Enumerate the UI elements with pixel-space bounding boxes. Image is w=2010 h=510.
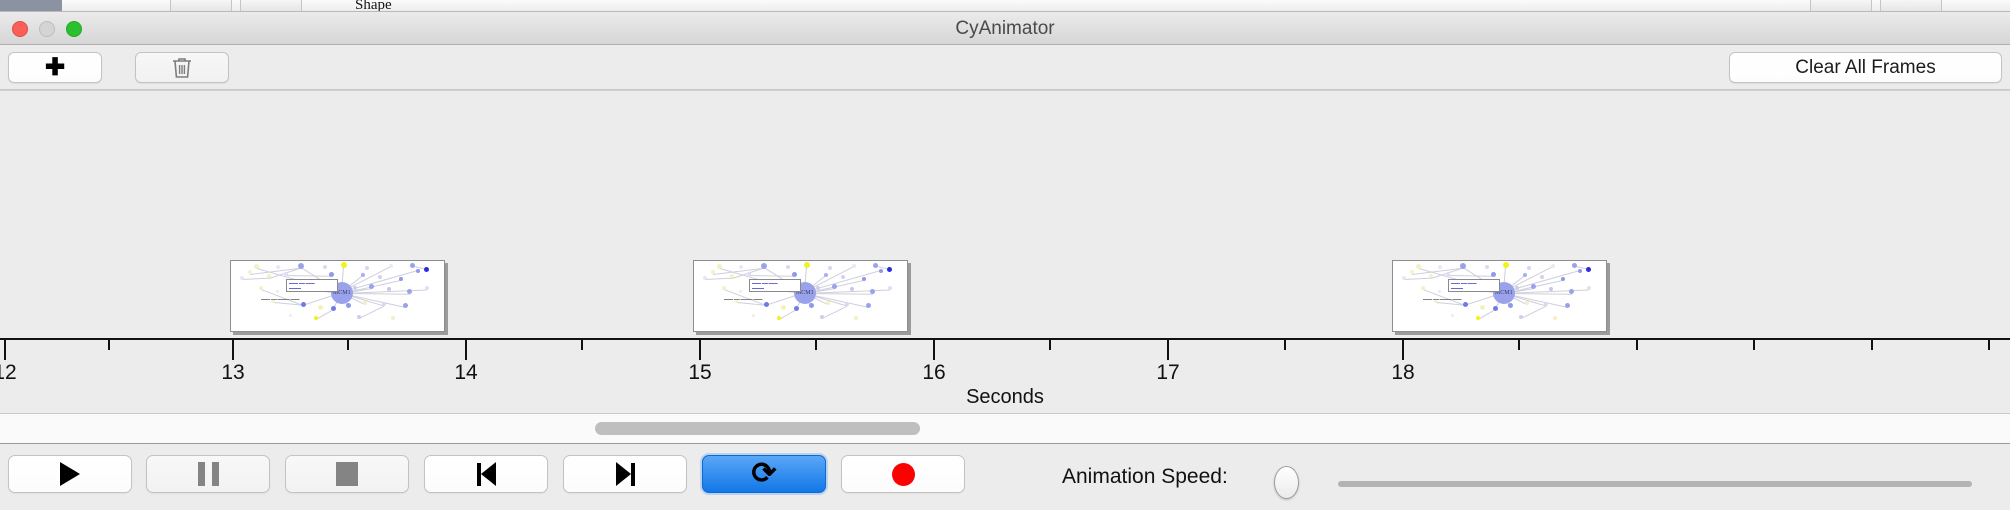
axis-line [0, 338, 2010, 340]
axis-tick [1871, 340, 1873, 350]
graph-node [873, 263, 878, 268]
graph-edge [1521, 305, 1547, 318]
graph-node [389, 264, 393, 268]
graph-node [378, 275, 382, 279]
graph-node [314, 316, 318, 320]
axis-tick [4, 340, 6, 360]
axis-tick-label: 13 [221, 361, 244, 385]
timeline-scrollbar[interactable] [0, 414, 2010, 444]
graph-node [1549, 287, 1553, 291]
graph-node [1551, 264, 1555, 268]
graph-node [824, 273, 828, 277]
play-button[interactable] [8, 455, 132, 493]
graph-node [1485, 265, 1489, 269]
axis-tick-label: 15 [688, 361, 711, 385]
axis-tick [1284, 340, 1286, 350]
graph-node [826, 301, 830, 305]
delete-frame-button[interactable] [135, 52, 229, 83]
graph-node [1561, 277, 1565, 281]
axis-tick-label: 18 [1391, 361, 1414, 385]
graph-node [399, 277, 403, 281]
axis-tick-label: 14 [454, 361, 477, 385]
graph-node [777, 316, 781, 320]
graph-node [828, 266, 832, 270]
graph-node [752, 314, 755, 317]
graph-node [407, 289, 412, 294]
axis-tick-label: 16 [922, 361, 945, 385]
graph-node [1540, 275, 1544, 279]
cyanimator-window: Shape CyAnimator ✚ Clear All Frames MCM1… [0, 0, 2010, 510]
graph-node [403, 303, 408, 308]
graph-edge [1404, 278, 1432, 280]
background-tab [170, 0, 232, 12]
graph-node [1553, 316, 1557, 320]
frame-thumbnail-1[interactable]: MCM1▬▬▬ ▬▬ ▬▬▬▬▬▬▬▬▬▬ ▬▬ ▬▬▬▬ ▬▬▬ [230, 260, 445, 332]
window-title: CyAnimator [0, 18, 2010, 40]
trash-icon [171, 56, 193, 80]
stop-icon [336, 462, 358, 486]
pause-icon [198, 462, 219, 486]
skip-forward-button[interactable] [563, 455, 687, 493]
graph-node [301, 302, 306, 307]
loop-icon: ⟳ [751, 459, 776, 489]
clear-all-frames-button[interactable]: Clear All Frames [1729, 52, 2002, 83]
graph-node [739, 290, 742, 293]
graph-node [1515, 286, 1519, 290]
graph-edge [242, 278, 270, 280]
animation-speed-label: Animation Speed: [1062, 465, 1228, 489]
clear-all-frames-label: Clear All Frames [1795, 57, 1935, 79]
graph-node [816, 286, 820, 290]
graph-node [862, 277, 866, 281]
graph-node [845, 302, 849, 306]
play-icon [60, 462, 80, 486]
graph-node [346, 303, 351, 308]
graph-node [369, 284, 374, 289]
graph-node [353, 286, 357, 290]
graph-node [276, 265, 280, 269]
graph-node [1565, 303, 1570, 308]
axis-tick-label: 17 [1156, 361, 1179, 385]
graph-node [365, 266, 369, 270]
timeline-panel[interactable]: MCM1▬▬▬ ▬▬ ▬▬▬▬▬▬▬▬▬▬ ▬▬ ▬▬▬▬ ▬▬▬MCM1▬▬▬… [0, 90, 2010, 414]
graph-edge [316, 309, 334, 320]
graph-tooltip-box: ▬▬▬ ▬▬ ▬▬▬▬▬▬▬ [286, 279, 338, 292]
graph-node [739, 265, 743, 269]
network-graph-preview: MCM1▬▬▬ ▬▬ ▬▬▬▬▬▬▬▬▬▬ ▬▬ ▬▬▬▬ ▬▬▬ [231, 261, 444, 331]
graph-node [1491, 272, 1496, 277]
graph-node [1493, 306, 1498, 311]
graph-node [240, 276, 244, 280]
background-tab [1810, 0, 1872, 12]
graph-edge [1478, 309, 1496, 320]
graph-node [1523, 273, 1527, 277]
graph-node [416, 269, 420, 273]
graph-node [879, 269, 883, 273]
axis-tick [933, 340, 935, 360]
axis-tick [108, 340, 110, 350]
axis-tick [581, 340, 583, 350]
graph-node [1569, 289, 1574, 294]
axis-tick [347, 340, 349, 350]
graph-node [259, 286, 263, 290]
graph-node [357, 315, 361, 319]
graph-edge [705, 278, 733, 280]
graph-node [1572, 263, 1577, 268]
graph-edge [749, 275, 794, 277]
graph-tooltip-box: ▬▬▬ ▬▬ ▬▬▬▬▬▬▬ [749, 279, 801, 292]
graph-node [363, 301, 367, 305]
graph-node [786, 265, 790, 269]
graph-node [1438, 290, 1441, 293]
graph-node [425, 286, 429, 290]
loop-button[interactable]: ⟳ [702, 455, 826, 493]
graph-node [1480, 305, 1485, 310]
timeline-scrollbar-thumb[interactable] [595, 422, 920, 435]
graph-node [1527, 266, 1531, 270]
graph-node [722, 286, 726, 290]
graph-edge [779, 309, 797, 320]
graph-node [391, 316, 395, 320]
plus-icon: ✚ [45, 56, 65, 80]
graph-node [318, 305, 323, 310]
graph-node [276, 290, 279, 293]
graph-node [331, 306, 336, 311]
graph-node [887, 267, 892, 272]
graph-node [1586, 267, 1591, 272]
graph-node [703, 276, 707, 280]
graph-node [1578, 269, 1582, 273]
axis-tick [1753, 340, 1755, 350]
graph-node [804, 262, 810, 268]
axis-tick [1988, 340, 1990, 350]
graph-node [866, 303, 871, 308]
axis-tick [232, 340, 234, 360]
skip-back-button[interactable] [424, 455, 548, 493]
frame-thumbnail-2[interactable]: MCM1▬▬▬ ▬▬ ▬▬▬▬▬▬▬▬▬▬ ▬▬ ▬▬▬▬ ▬▬▬ [693, 260, 908, 332]
title-bar: CyAnimator [0, 12, 2010, 45]
graph-node [852, 264, 856, 268]
graph-node [1503, 262, 1509, 268]
graph-node [1476, 316, 1480, 320]
skip-forward-icon [616, 462, 635, 486]
network-graph-preview: MCM1▬▬▬ ▬▬ ▬▬▬▬▬▬▬▬▬▬ ▬▬ ▬▬▬▬ ▬▬▬ [694, 261, 907, 331]
background-tab [240, 0, 302, 12]
graph-node [820, 315, 824, 319]
animation-speed-slider-thumb[interactable] [1274, 466, 1299, 499]
background-window-strip: Shape [0, 0, 2010, 12]
record-icon [892, 463, 915, 486]
frame-thumbnail-3[interactable]: MCM1▬▬▬ ▬▬ ▬▬▬▬▬▬▬▬▬▬ ▬▬ ▬▬▬▬ ▬▬▬ [1392, 260, 1607, 332]
timeline-axis: 12131415161718 Seconds [0, 338, 2010, 414]
graph-node [341, 262, 347, 268]
background-selected-tab [0, 0, 62, 11]
axis-tick [1402, 340, 1404, 360]
graph-node [1519, 315, 1523, 319]
graph-edge [286, 275, 331, 277]
add-frame-button[interactable]: ✚ [8, 52, 102, 83]
graph-node [870, 289, 875, 294]
graph-annotation-label: ▬▬▬ ▬▬ ▬▬▬▬ ▬▬▬ [261, 297, 300, 301]
graph-node [841, 275, 845, 279]
graph-node [1531, 284, 1536, 289]
timeline-top-divider [0, 90, 2010, 91]
toolbar: ✚ Clear All Frames [0, 45, 2010, 90]
graph-node [794, 306, 799, 311]
graph-node [1525, 301, 1529, 305]
graph-node [289, 314, 292, 317]
background-window-label: Shape [355, 0, 392, 12]
background-tab [1880, 0, 1942, 12]
network-graph-preview: MCM1▬▬▬ ▬▬ ▬▬▬▬▬▬▬▬▬▬ ▬▬ ▬▬▬▬ ▬▬▬ [1393, 261, 1606, 331]
graph-annotation-label: ▬▬▬ ▬▬ ▬▬▬▬ ▬▬▬ [724, 297, 763, 301]
axis-tick [1518, 340, 1520, 350]
graph-edge [822, 305, 848, 318]
graph-node [1508, 303, 1513, 308]
axis-tick [815, 340, 817, 350]
axis-tick [1636, 340, 1638, 350]
graph-node [792, 272, 797, 277]
graph-node [832, 284, 837, 289]
graph-node [888, 286, 892, 290]
graph-node [361, 273, 365, 277]
graph-node [387, 287, 391, 291]
graph-node [854, 316, 858, 320]
graph-node [850, 287, 854, 291]
graph-node [809, 303, 814, 308]
graph-node [1402, 276, 1406, 280]
graph-edge [359, 305, 385, 318]
graph-node [329, 272, 334, 277]
graph-node [1463, 302, 1468, 307]
graph-tooltip-box: ▬▬▬ ▬▬ ▬▬▬▬▬▬▬ [1448, 279, 1500, 292]
graph-edge [1448, 275, 1493, 277]
pause-button[interactable] [146, 455, 270, 493]
stop-button[interactable] [285, 455, 409, 493]
playback-control-bar: ⟳ Animation Speed: [0, 445, 2010, 510]
graph-node [323, 265, 327, 269]
axis-tick [1049, 340, 1051, 350]
graph-node [424, 267, 429, 272]
graph-annotation-label: ▬▬▬ ▬▬ ▬▬▬▬ ▬▬▬ [1423, 297, 1462, 301]
axis-tick [465, 340, 467, 360]
graph-node [1438, 265, 1442, 269]
graph-node [1451, 314, 1454, 317]
record-button[interactable] [841, 455, 965, 493]
animation-speed-slider[interactable] [1338, 481, 1972, 487]
graph-node [1587, 286, 1591, 290]
axis-tick [1167, 340, 1169, 360]
graph-node [410, 263, 415, 268]
graph-node [1421, 286, 1425, 290]
axis-tick [699, 340, 701, 360]
skip-back-icon [477, 462, 496, 486]
graph-node [1544, 302, 1548, 306]
axis-title: Seconds [0, 386, 2010, 409]
graph-node [781, 305, 786, 310]
graph-node [764, 302, 769, 307]
axis-tick-label: 12 [0, 361, 17, 385]
graph-node [382, 302, 386, 306]
